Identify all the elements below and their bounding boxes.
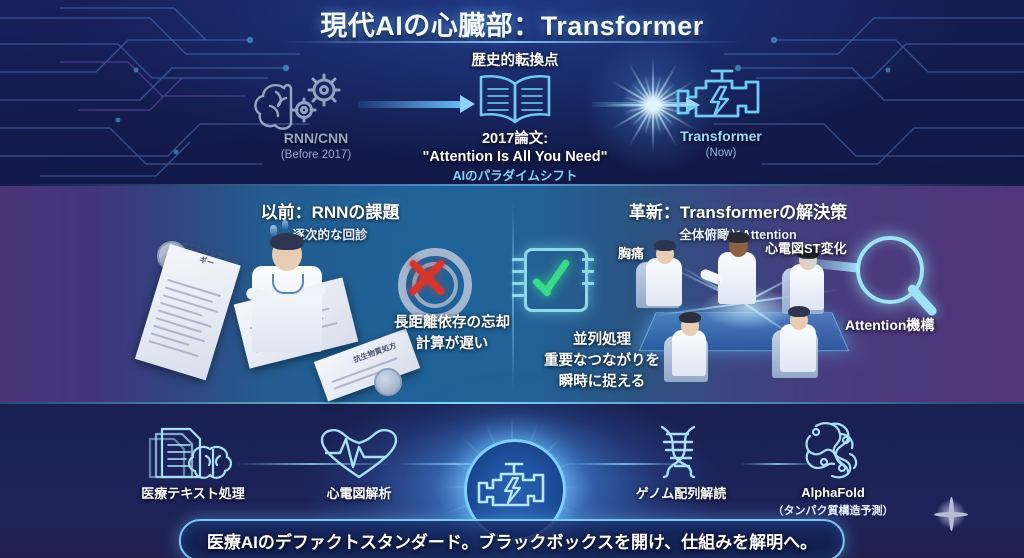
flow-node-rnn-cnn: RNN/CNN (Before 2017): [246, 72, 386, 162]
application-label: 医療テキスト処理: [98, 486, 288, 503]
title-underline: [282, 41, 742, 43]
attention-mechanism-label: Attention機構: [845, 315, 934, 335]
flow-node-transformer: Transformer (Now): [650, 66, 792, 160]
check-mark-icon: [530, 252, 578, 300]
application-item-alphafold: AlphaFold （タンパク質構造予測）: [738, 418, 928, 518]
protein-fold-icon: [738, 418, 928, 480]
flow-node-paper: 2017論文: "Attention Is All You Need" AIのパ…: [395, 72, 635, 185]
flow-node-label: Transformer: [650, 128, 792, 146]
left-panel-heading: 以前：RNNの課題: [190, 198, 470, 223]
infographic-canvas: 現代AIの心臓部：Transformer RNN/CNN (Before 2: [0, 0, 1024, 558]
node-tag-chest-pain: 胸痛: [618, 243, 644, 262]
engine-chip-hub-icon: [475, 458, 555, 520]
flow-node-sublabel: (Before 2017): [246, 148, 386, 163]
flow-node-tagline: AIのパラダイムシフト: [395, 168, 635, 184]
application-item-medical-text: 医療テキスト処理: [98, 423, 288, 503]
flow-node-sublabel: (Now): [650, 146, 792, 161]
page-title: 現代AIの心臓部：Transformer: [0, 4, 1024, 43]
left-panel-heading-wrap: 以前：RNNの課題 逐次的な回診: [190, 198, 470, 243]
scroll-roll-bottom: [374, 368, 402, 396]
flow-node-sublabel: "Attention Is All You Need": [395, 148, 635, 166]
application-sublabel: （タンパク質構造予測）: [738, 502, 928, 518]
application-label: AlphaFold: [738, 485, 928, 502]
engine-chip-icon: [650, 66, 792, 128]
node-tag-ecg-st: 心電図ST変化: [765, 238, 847, 257]
left-panel-subheading: 逐次的な回診: [190, 224, 470, 243]
flow-node-label: 2017論文:: [395, 130, 635, 148]
open-book-icon: [395, 72, 635, 128]
flow-stage-label-wrap: 歴史的転換点: [395, 52, 635, 70]
sparkle-icon: [934, 497, 968, 531]
bottom-banner: 医療AIのデファクトスタンダード。ブラックボックスを開け、仕組みを解明へ。: [179, 519, 845, 558]
x-mark-icon: [398, 248, 456, 306]
flow-stage-label: 歴史的転換点: [395, 52, 635, 70]
right-panel-heading: 革新：Transformerの解決策: [578, 198, 898, 223]
document-brain-icon: [98, 423, 288, 481]
flow-node-label: RNN/CNN: [246, 130, 386, 148]
